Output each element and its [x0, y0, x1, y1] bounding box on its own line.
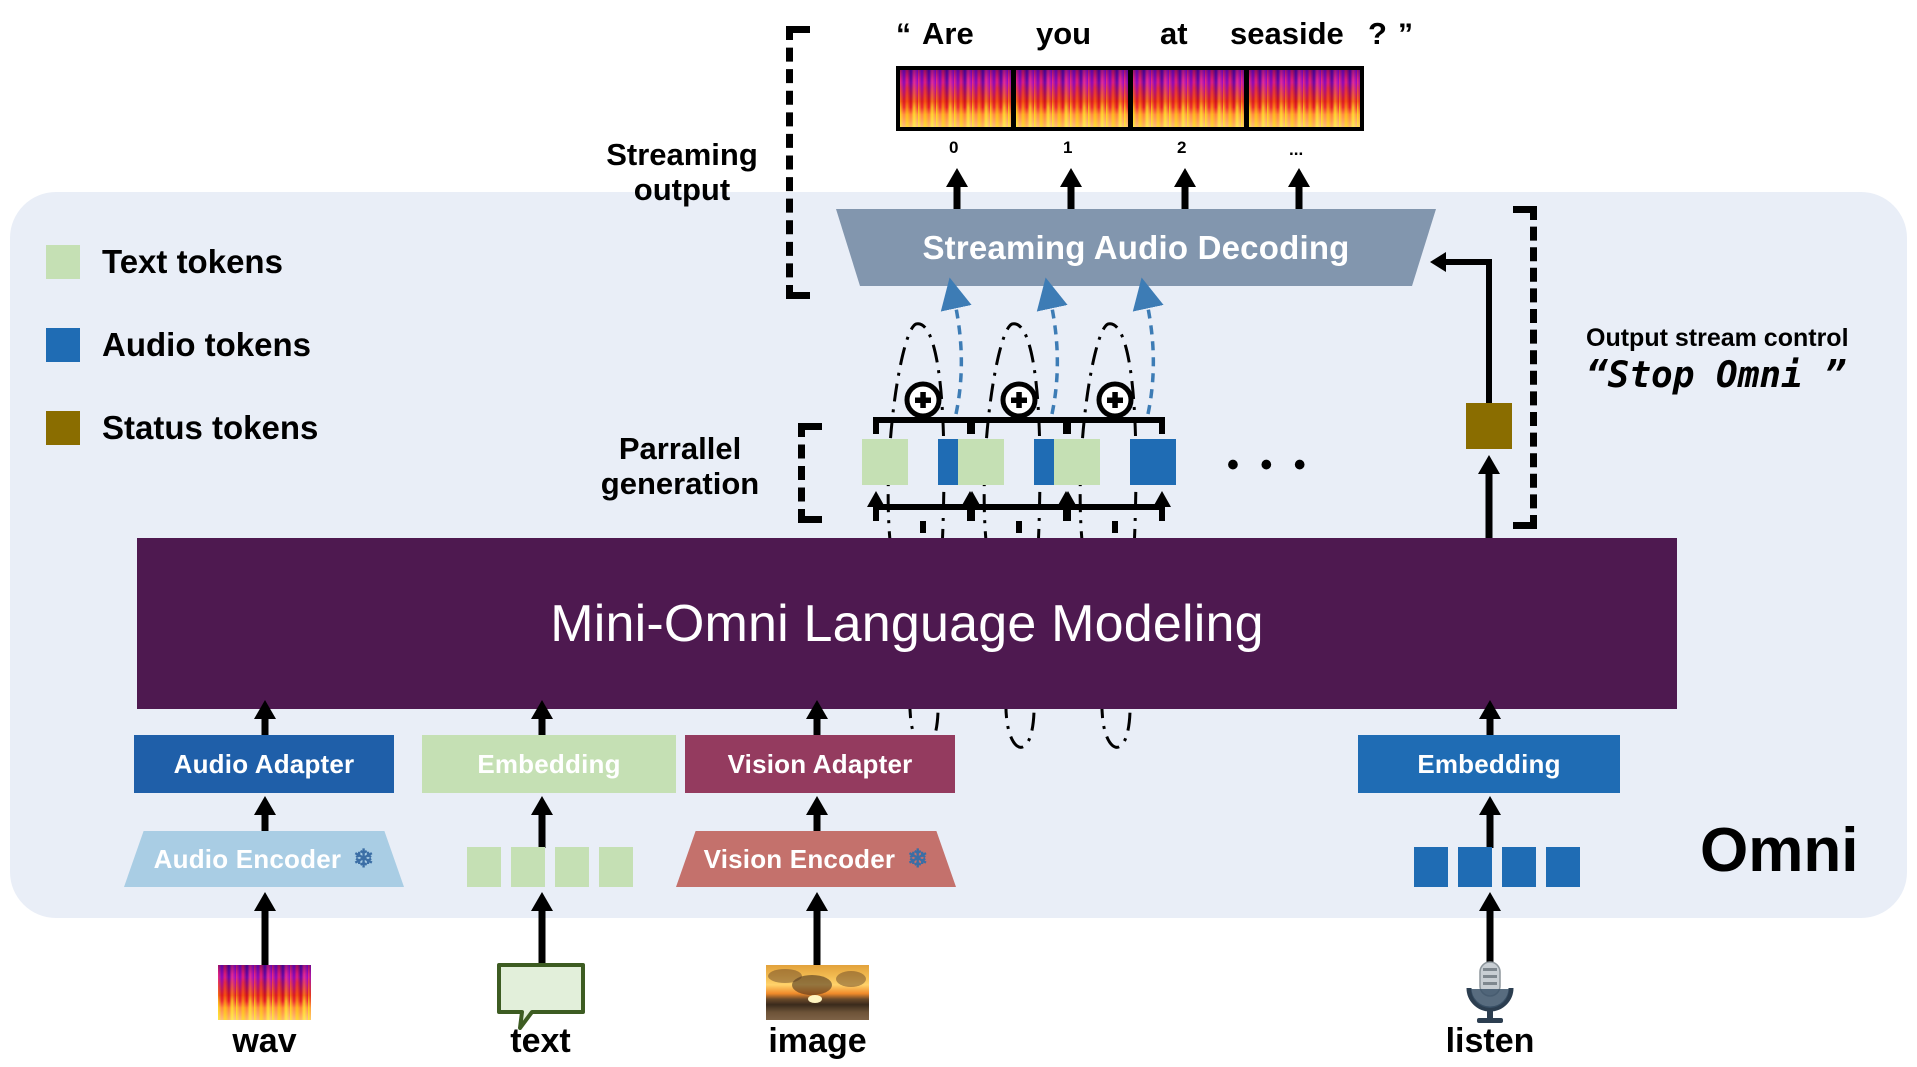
text-token-square — [1054, 439, 1100, 485]
text-token-square — [599, 847, 633, 887]
snowflake-icon: ❄ — [907, 844, 928, 874]
audio-adapter-block: Audio Adapter — [134, 735, 394, 793]
legend-item-text-tokens: Text tokens — [46, 243, 318, 281]
vision-encoder-label: Vision Encoder — [704, 844, 896, 875]
sunset-photo-thumbnail — [766, 965, 869, 1020]
audio-token-square — [1130, 439, 1176, 485]
token-group-2 — [1054, 382, 1176, 532]
audio-token-square — [1414, 847, 1448, 887]
legend-label-text-tokens: Text tokens — [102, 243, 283, 281]
legend-label-audio-tokens: Audio tokens — [102, 326, 311, 364]
spectrogram-frame-2 — [1133, 70, 1244, 127]
decoder-output-arrow-0 — [945, 168, 969, 212]
text-embedding-block: Embedding — [422, 735, 676, 793]
text-token-row — [467, 847, 633, 887]
decoder-output-arrow-2 — [1173, 168, 1197, 212]
mic-to-tokens-arrow — [1478, 892, 1502, 968]
audio-encoder-label: Audio Encoder — [154, 844, 342, 875]
output-stream-control-bracket — [1530, 206, 1537, 529]
text-input-label: text — [494, 1022, 587, 1061]
spectrogram-frame-0 — [900, 70, 1011, 127]
streaming-output-bracket — [786, 26, 793, 299]
speech-bubble-icon — [496, 962, 586, 1030]
streaming-output-label: Streaming output — [592, 138, 772, 207]
vision-adapter-block: Vision Adapter — [685, 735, 955, 793]
output-spectrogram-strip — [896, 66, 1364, 131]
audio-token-square — [1546, 847, 1580, 887]
text-token-square — [467, 847, 501, 887]
streaming-output-label-line1: Streaming — [592, 138, 772, 173]
spectrogram-frame-1 — [1016, 70, 1127, 127]
legend-item-audio-tokens: Audio tokens — [46, 326, 318, 364]
microphone-icon — [1455, 958, 1525, 1028]
text-embedding-label: Embedding — [477, 749, 620, 780]
parallel-generation-label-line1: Parrallel — [580, 432, 780, 467]
audio-token-square — [1458, 847, 1492, 887]
spectrogram-thumbnail — [218, 965, 311, 1020]
transcript-word-3: seaside — [1230, 16, 1344, 52]
decoder-output-arrow-3 — [1287, 168, 1311, 212]
listen-token-row — [1414, 847, 1580, 887]
transcript-close-quote: ” — [1398, 18, 1413, 52]
audio-encoder-block: Audio Encoder ❄ — [124, 831, 404, 887]
text-token-square — [958, 439, 1004, 485]
frame-index-2: 2 — [1177, 138, 1186, 158]
omni-panel-label: Omni — [1700, 815, 1858, 886]
vision-adapter-label: Vision Adapter — [728, 749, 913, 780]
transcript-question-mark: ? — [1368, 16, 1387, 52]
streaming-audio-decoder-label: Streaming Audio Decoding — [922, 229, 1349, 267]
transcript-word-1: you — [1036, 16, 1091, 52]
text-token-square — [862, 439, 908, 485]
text-token-swatch-icon — [46, 245, 80, 279]
audio-tokens-to-embedding-arrow — [1478, 796, 1502, 848]
legend: Text tokens Audio tokens Status tokens — [46, 243, 318, 447]
language-model-block: Mini-Omni Language Modeling — [137, 538, 1677, 709]
parallel-generation-label-line2: generation — [580, 467, 780, 502]
parallel-generation-bracket — [798, 423, 805, 523]
frame-index-1: 1 — [1063, 138, 1072, 158]
image-input-label: image — [766, 1022, 869, 1061]
listen-input-label: listen — [1440, 1022, 1540, 1061]
legend-item-status-tokens: Status tokens — [46, 409, 318, 447]
token-input-fork — [1054, 485, 1176, 533]
transcript-open-quote: “ — [896, 18, 911, 52]
parallel-generation-label: Parrallel generation — [580, 432, 780, 501]
image-to-vision-encoder-arrow — [805, 892, 829, 968]
snowflake-icon: ❄ — [353, 844, 374, 874]
transcript: “ Are you at seaside ? ” — [890, 14, 1430, 54]
listen-embedding-label: Embedding — [1417, 749, 1560, 780]
text-input-to-tokens-arrow — [530, 892, 554, 968]
plus-circle-icon — [1054, 382, 1176, 438]
audio-adapter-label: Audio Adapter — [174, 749, 355, 780]
text-token-square — [555, 847, 589, 887]
transcript-word-2: at — [1160, 16, 1188, 52]
language-model-label: Mini-Omni Language Modeling — [550, 594, 1264, 654]
streaming-audio-decoder-block: Streaming Audio Decoding — [836, 209, 1436, 286]
frame-index-0: 0 — [949, 138, 958, 158]
text-token-square — [511, 847, 545, 887]
output-stream-control-label: Output stream control — [1586, 324, 1916, 353]
streaming-output-label-line2: output — [592, 173, 772, 208]
spectrogram-frame-3 — [1249, 70, 1360, 127]
wav-input-label: wav — [218, 1022, 311, 1061]
decoder-output-arrow-1 — [1059, 168, 1083, 212]
frame-index-ellipsis: ... — [1289, 140, 1303, 160]
wav-to-audio-encoder-arrow — [253, 892, 277, 968]
transcript-word-0: Are — [922, 16, 974, 52]
listen-embedding-block: Embedding — [1358, 735, 1620, 793]
text-tokens-to-embedding-arrow — [530, 796, 554, 848]
token-groups-ellipsis: • • • — [1227, 446, 1312, 485]
audio-token-square — [1502, 847, 1536, 887]
legend-label-status-tokens: Status tokens — [102, 409, 318, 447]
vision-encoder-block: Vision Encoder ❄ — [676, 831, 956, 887]
status-token-to-decoder-path — [1420, 240, 1560, 410]
lm-to-status-token-arrow — [1477, 455, 1501, 543]
status-token-swatch-icon — [46, 411, 80, 445]
stop-omni-command: “Stop Omni ” — [1586, 353, 1916, 398]
output-stream-control: Output stream control “Stop Omni ” — [1586, 324, 1916, 398]
audio-token-swatch-icon — [46, 328, 80, 362]
